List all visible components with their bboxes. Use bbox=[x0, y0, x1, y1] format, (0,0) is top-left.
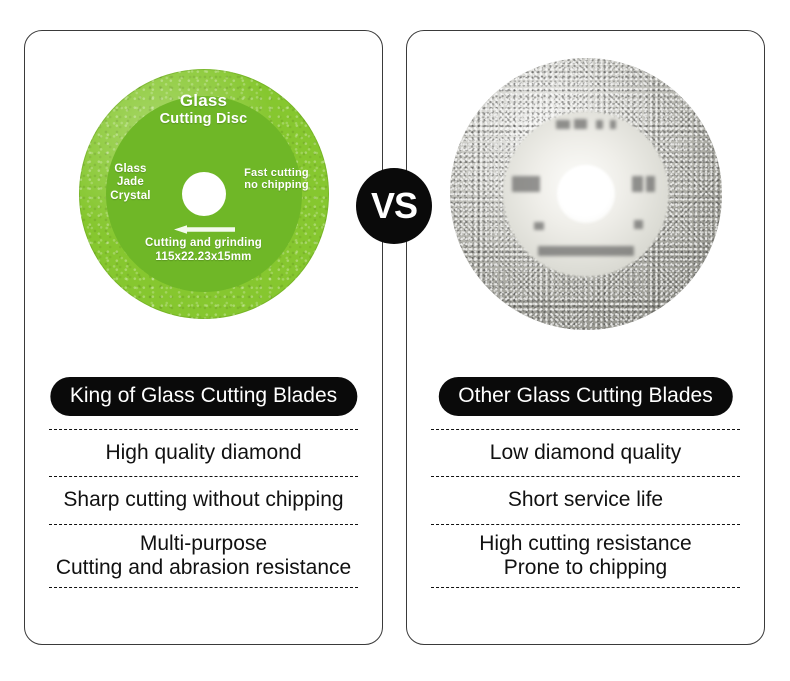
feature-item: High quality diamond bbox=[37, 430, 370, 476]
right-disc-image bbox=[407, 31, 764, 356]
disc-subtitle: Cutting Disc bbox=[79, 111, 329, 128]
blurred-marking bbox=[534, 222, 544, 230]
blurred-marking bbox=[632, 176, 643, 192]
disc-title: Glass bbox=[79, 91, 329, 111]
feature-item: Sharp cutting without chipping bbox=[37, 477, 370, 523]
divider bbox=[431, 587, 740, 588]
feature-line-1: High cutting resistance bbox=[421, 532, 750, 556]
disc-benefit-no-chipping: no chipping bbox=[235, 179, 319, 192]
feature-line-1: Multi-purpose bbox=[39, 532, 368, 556]
divider bbox=[49, 587, 358, 588]
disc-usage-text: Cutting and grinding bbox=[79, 237, 329, 251]
blurred-marking bbox=[596, 120, 603, 129]
right-banner-label: Other Glass Cutting Blades bbox=[438, 377, 732, 416]
disc-material-crystal: Crystal bbox=[93, 190, 169, 204]
disc-material-glass: Glass bbox=[93, 163, 169, 177]
rotation-arrow-icon bbox=[173, 225, 235, 234]
disc-benefit-list: Fast cutting no chipping bbox=[235, 167, 319, 193]
gray-diamond-disc bbox=[450, 58, 722, 330]
feature-item: Short service life bbox=[419, 477, 752, 523]
green-cutting-disc: Glass Cutting Disc Glass Jade Crystal Fa… bbox=[79, 69, 329, 319]
vs-badge: VS bbox=[356, 168, 432, 244]
feature-item: High cutting resistance Prone to chippin… bbox=[419, 525, 752, 588]
right-feature-list: Low diamond quality Short service life H… bbox=[419, 429, 752, 634]
blurred-marking bbox=[610, 120, 616, 129]
blurred-marking bbox=[646, 176, 655, 192]
feature-line-2: Cutting and abrasion resistance bbox=[39, 556, 368, 580]
disc-benefit-fast-cutting: Fast cutting bbox=[235, 167, 319, 180]
disc-material-list: Glass Jade Crystal bbox=[93, 163, 169, 204]
feature-item: Low diamond quality bbox=[419, 430, 752, 476]
feature-line-2: Prone to chipping bbox=[421, 556, 750, 580]
disc-dimensions: 115x22.23x15mm bbox=[79, 251, 329, 265]
left-disc-image: Glass Cutting Disc Glass Jade Crystal Fa… bbox=[25, 31, 382, 356]
product-card-right: Other Glass Cutting Blades Low diamond q… bbox=[406, 30, 765, 645]
blurred-marking bbox=[634, 220, 643, 229]
blurred-marking bbox=[512, 176, 540, 192]
feature-item: Multi-purpose Cutting and abrasion resis… bbox=[37, 525, 370, 588]
left-banner-label: King of Glass Cutting Blades bbox=[50, 377, 357, 416]
comparison-infographic: Glass Cutting Disc Glass Jade Crystal Fa… bbox=[0, 0, 790, 681]
blurred-marking bbox=[538, 246, 634, 256]
left-feature-list: High quality diamond Sharp cutting witho… bbox=[37, 429, 370, 634]
product-card-left: Glass Cutting Disc Glass Jade Crystal Fa… bbox=[24, 30, 383, 645]
blurred-marking bbox=[556, 120, 570, 129]
disc-center-hole bbox=[557, 165, 615, 223]
disc-material-jade: Jade bbox=[93, 176, 169, 190]
disc-center-hole bbox=[182, 172, 226, 216]
blurred-marking bbox=[574, 119, 587, 129]
